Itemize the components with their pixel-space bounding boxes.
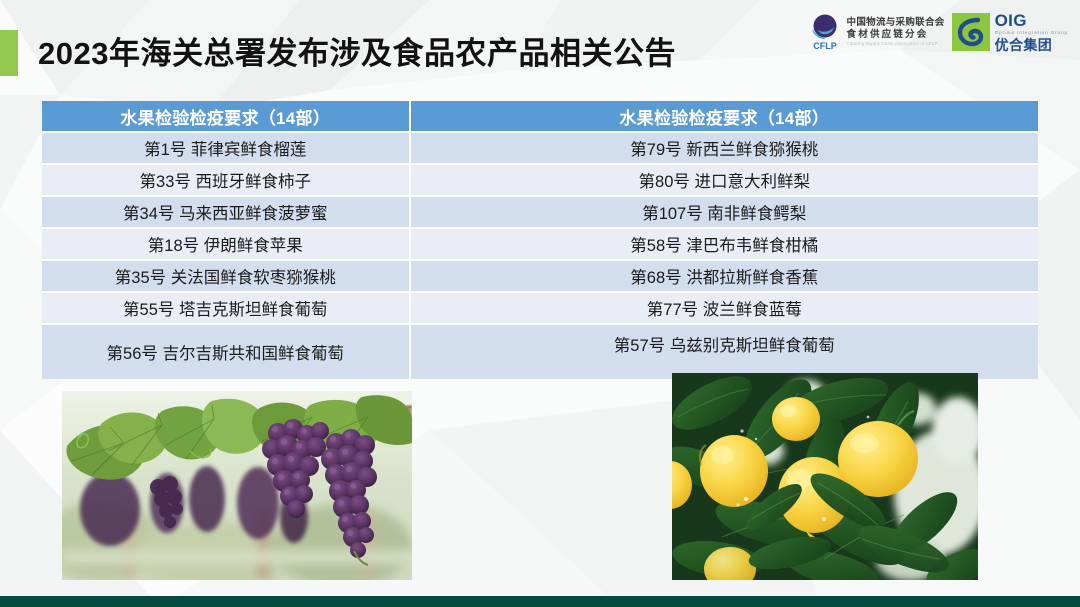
cflp-logo: CFLP 中国物流与采购联合会 食材供应链分会 Catering Supply … (808, 12, 945, 52)
cell-left: 第55号 塔吉克斯坦鲜食葡萄 (42, 293, 411, 325)
table-row: 第55号 塔吉克斯坦鲜食葡萄 第77号 波兰鲜食蓝莓 (42, 293, 1038, 325)
announcements-table-wrap: 水果检验检疫要求（14部） 水果检验检疫要求（14部） 第1号 菲律宾鲜食榴莲 … (42, 101, 1038, 379)
cflp-line-2: 食材供应链分会 (847, 29, 945, 40)
cell-left: 第35号 关法国鲜食软枣猕猴桃 (42, 261, 411, 293)
oig-line-3: 优合集团 (995, 37, 1068, 53)
table-row: 第33号 西班牙鲜食柿子 第80号 进口意大利鲜梨 (42, 165, 1038, 197)
svg-text:CFLP: CFLP (813, 41, 837, 51)
column-header-right: 水果检验检疫要求（14部） (411, 101, 1038, 133)
accent-bar (0, 30, 18, 76)
cflp-line-1: 中国物流与采购联合会 (847, 17, 945, 28)
table-row: 第34号 马来西亚鲜食菠萝蜜 第107号 南非鲜食鳄梨 (42, 197, 1038, 229)
table-row: 第18号 伊朗鲜食苹果 第58号 津巴布韦鲜食柑橘 (42, 229, 1038, 261)
page-title: 2023年海关总署发布涉及食品农产品相关公告 (38, 35, 676, 73)
logo-group: CFLP 中国物流与采购联合会 食材供应链分会 Catering Supply … (808, 9, 1068, 55)
slide-canvas: 2023年海关总署发布涉及食品农产品相关公告 CFLP 中国物流与采购联合会 食… (0, 0, 1080, 607)
cell-right: 第58号 津巴布韦鲜食柑橘 (411, 229, 1038, 261)
oig-logo-icon (952, 13, 990, 51)
cell-right: 第77号 波兰鲜食蓝莓 (411, 293, 1038, 325)
cell-left: 第33号 西班牙鲜食柿子 (42, 165, 411, 197)
table-row: 第35号 关法国鲜食软枣猕猴桃 第68号 洪都拉斯鲜食香蕉 (42, 261, 1038, 293)
announcements-table: 水果检验检疫要求（14部） 水果检验检疫要求（14部） 第1号 菲律宾鲜食榴莲 … (42, 101, 1038, 379)
cflp-logo-text: 中国物流与采购联合会 食材供应链分会 Catering Supply Chain… (847, 17, 945, 47)
table-header-row: 水果检验检疫要求（14部） 水果检验检疫要求（14部） (42, 101, 1038, 133)
cell-left: 第18号 伊朗鲜食苹果 (42, 229, 411, 261)
oig-line-1: OIG (995, 12, 1068, 29)
cell-left: 第34号 马来西亚鲜食菠萝蜜 (42, 197, 411, 229)
cell-left: 第56号 吉尔吉斯共和国鲜食葡萄 (42, 325, 411, 379)
cell-right: 第80号 进口意大利鲜梨 (411, 165, 1038, 197)
cell-right: 第107号 南非鲜食鳄梨 (411, 197, 1038, 229)
cflp-line-3: Catering Supply Chain Association of CFL… (847, 41, 945, 47)
cell-left: 第1号 菲律宾鲜食榴莲 (42, 133, 411, 165)
cell-right: 第57号 乌兹别克斯坦鲜食葡萄 (411, 325, 1038, 379)
table-row: 第1号 菲律宾鲜食榴莲 第79号 新西兰鲜食猕猴桃 (42, 133, 1038, 165)
lemons-photo (672, 373, 978, 580)
oig-logo: OIG Optima Integration Group 优合集团 (952, 12, 1068, 53)
column-header-left: 水果检验检疫要求（14部） (42, 101, 411, 133)
cflp-logo-icon: CFLP (808, 12, 842, 52)
cell-right: 第68号 洪都拉斯鲜食香蕉 (411, 261, 1038, 293)
table-body: 第1号 菲律宾鲜食榴莲 第79号 新西兰鲜食猕猴桃 第33号 西班牙鲜食柿子 第… (42, 133, 1038, 379)
cell-right: 第79号 新西兰鲜食猕猴桃 (411, 133, 1038, 165)
oig-line-2: Optima Integration Group (995, 29, 1068, 37)
oig-logo-text: OIG Optima Integration Group 优合集团 (995, 12, 1068, 53)
table-row: 第56号 吉尔吉斯共和国鲜食葡萄 第57号 乌兹别克斯坦鲜食葡萄 (42, 325, 1038, 379)
footer-bar (0, 596, 1080, 607)
grapes-photo (62, 391, 412, 580)
